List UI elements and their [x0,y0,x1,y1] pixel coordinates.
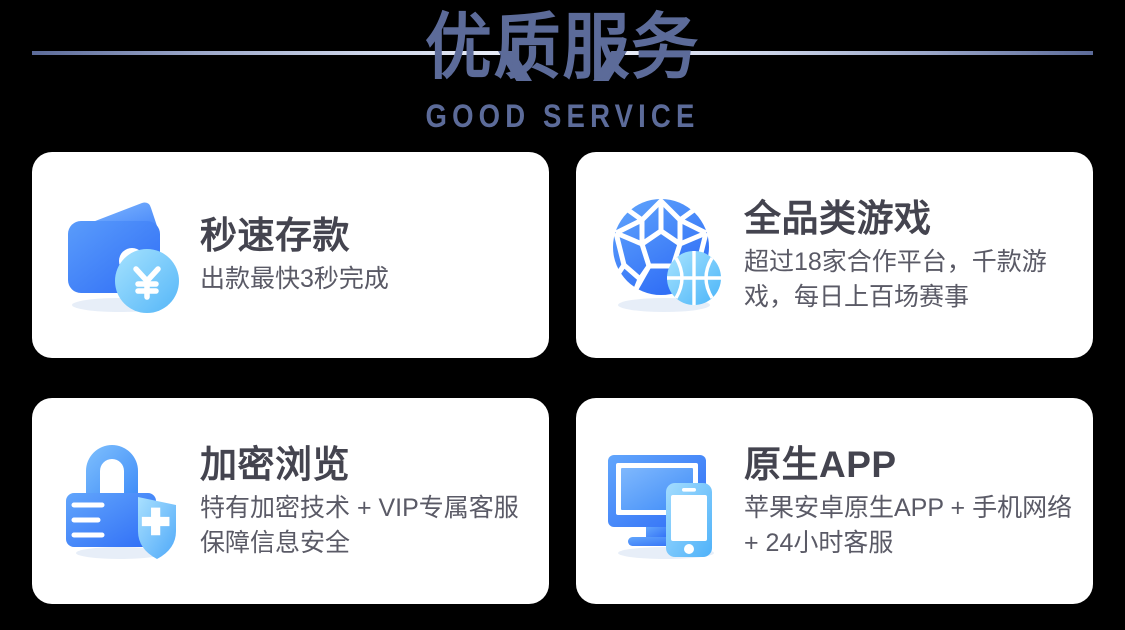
monitor-phone-icon [602,435,734,567]
feature-card-title: 加密浏览 [200,442,531,487]
feature-card-encryption[interactable]: 加密浏览 特有加密技术 + VIP专属客服保障信息安全 [32,398,549,604]
soccer-basketball-icon [602,189,734,321]
page-subtitle: GOOD SERVICE [79,98,1047,134]
feature-card-text: 全品类游戏 超过18家合作平台，千款游戏，每日上百场赛事 [744,196,1075,315]
feature-card-title: 原生APP [744,442,1075,487]
feature-card-subtitle: 出款最快3秒完成 [200,262,531,297]
page-title: 优质服务 [39,6,1085,90]
lock-shield-icon [58,435,190,567]
feature-card-text: 秒速存款 出款最快3秒完成 [200,213,531,297]
feature-card-grid: 秒速存款 出款最快3秒完成 [32,152,1093,604]
feature-card-subtitle: 特有加密技术 + VIP专属客服保障信息安全 [200,491,531,561]
feature-card-native-app[interactable]: 原生APP 苹果安卓原生APP + 手机网络 + 24小时客服 [576,398,1093,604]
feature-card-games[interactable]: 全品类游戏 超过18家合作平台，千款游戏，每日上百场赛事 [576,152,1093,358]
feature-card-deposit[interactable]: 秒速存款 出款最快3秒完成 [32,152,549,358]
feature-card-title: 全品类游戏 [744,196,1075,241]
feature-card-text: 原生APP 苹果安卓原生APP + 手机网络 + 24小时客服 [744,442,1075,561]
feature-card-title: 秒速存款 [200,213,531,258]
feature-card-subtitle: 苹果安卓原生APP + 手机网络 + 24小时客服 [744,491,1075,561]
wallet-coin-icon [58,189,190,321]
feature-card-subtitle: 超过18家合作平台，千款游戏，每日上百场赛事 [744,245,1075,315]
page-header: 优质服务 GOOD SERVICE [0,0,1125,146]
feature-card-text: 加密浏览 特有加密技术 + VIP专属客服保障信息安全 [200,442,531,561]
